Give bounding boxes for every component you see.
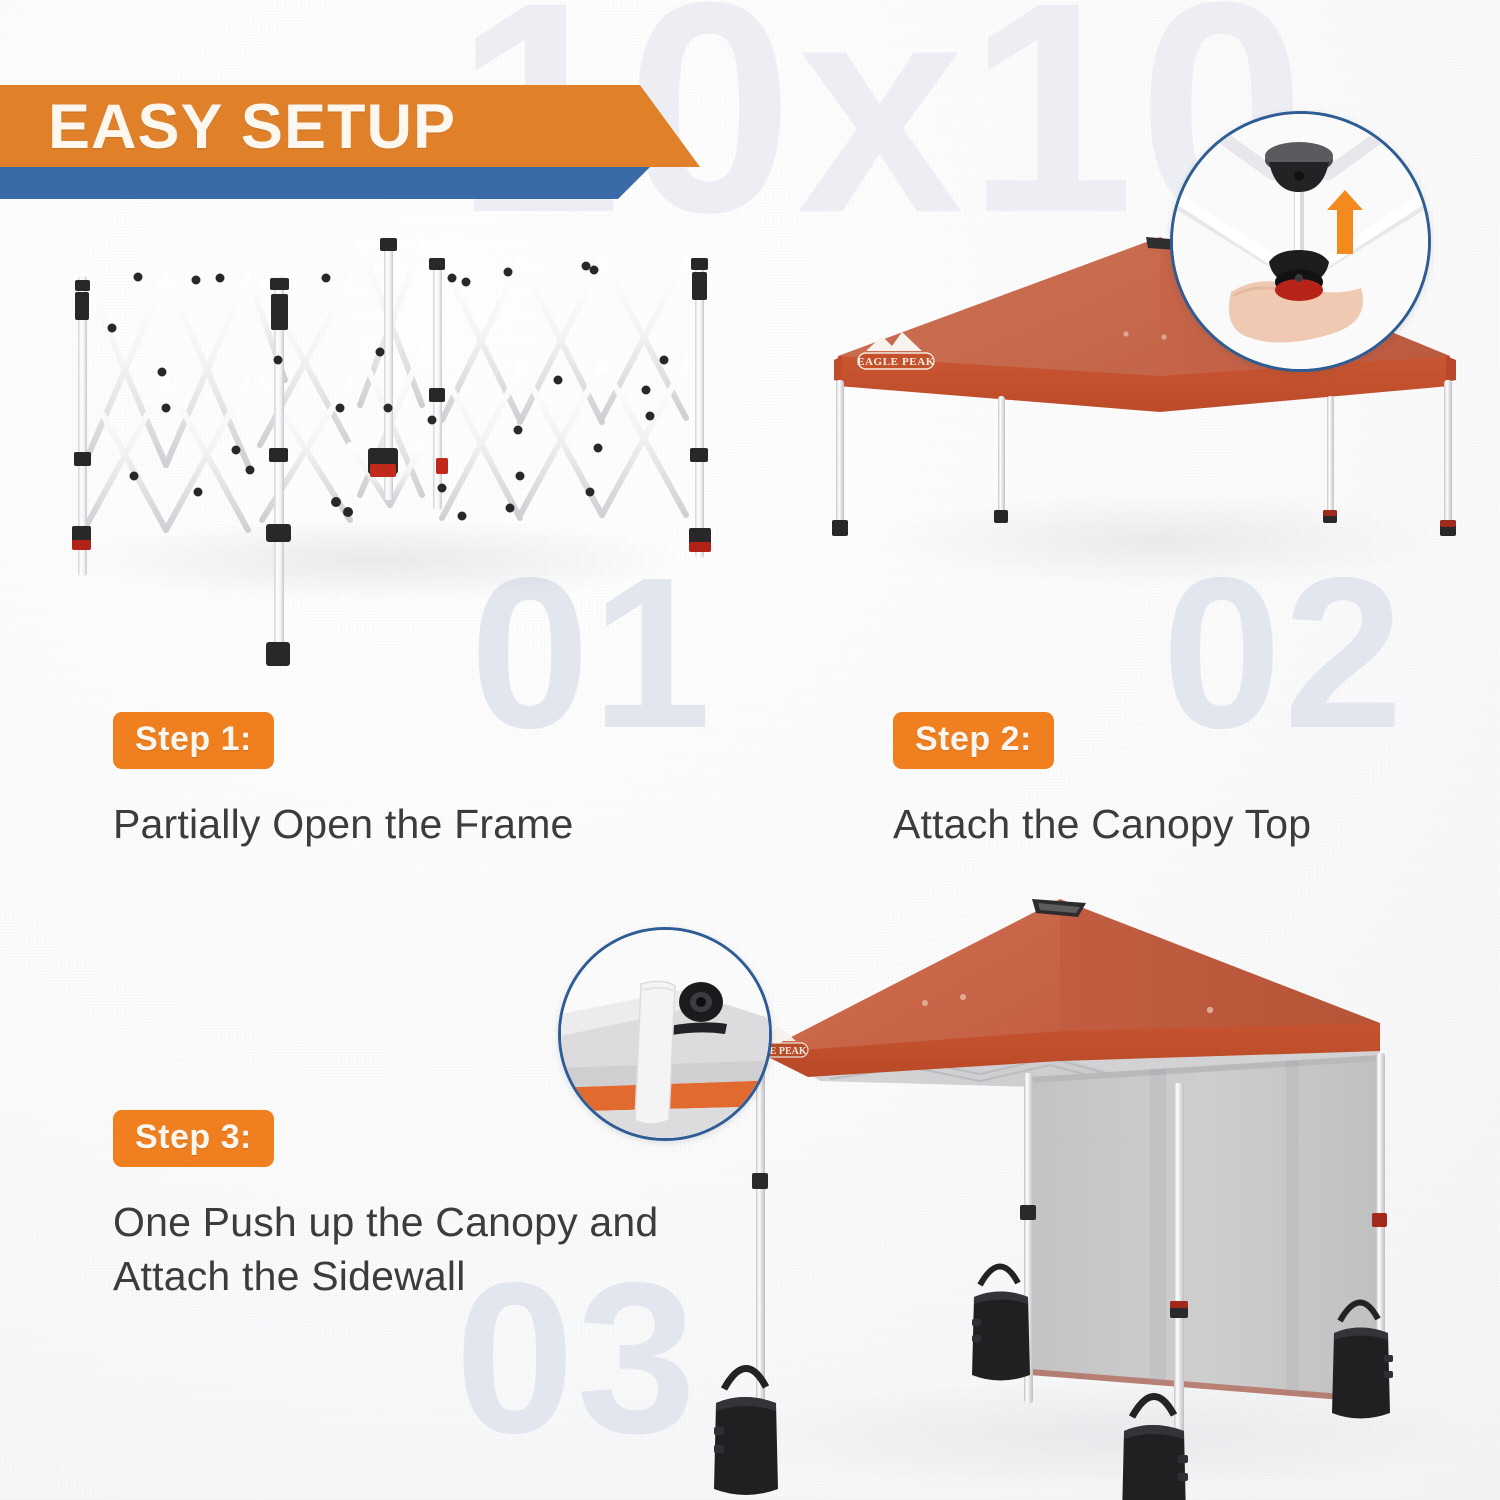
header-banner: EASY SETUP [0, 85, 700, 200]
step2-badge: Step 2: [893, 712, 1054, 769]
leg-front-left [756, 1051, 765, 1411]
weight-bag-front-left [714, 1368, 778, 1495]
canopy-sidewall-illustration: EAGLE PEAK [680, 855, 1500, 1500]
step2-inset-push-up-hub [1170, 111, 1431, 372]
step2-text: Attach the Canopy Top [893, 797, 1311, 851]
step1-figure-frame [50, 230, 730, 680]
sidewall-panel [1030, 1055, 1380, 1403]
step3-badge: Step 3: [113, 1110, 274, 1167]
step3-caption: Step 3: One Push up the Canopy and Attac… [113, 1110, 658, 1303]
step3-text: One Push up the Canopy and Attach the Si… [113, 1195, 658, 1303]
step3-figure-canopy-sidewall: EAGLE PEAK [680, 855, 1500, 1500]
step1-badge: Step 1: [113, 712, 274, 769]
svg-text:EAGLE PEAK: EAGLE PEAK [857, 356, 935, 368]
step1-text: Partially Open the Frame [113, 797, 574, 851]
velcro-strap-detail [561, 930, 769, 1138]
step2-caption: Step 2: Attach the Canopy Top [893, 712, 1311, 851]
accordion-frame-illustration [50, 230, 730, 680]
weight-bag-center-rear [972, 1266, 1030, 1380]
banner-title: EASY SETUP [48, 88, 456, 166]
push-up-hub-detail [1173, 114, 1428, 369]
step2-figure-canopy: EAGLE PEAK [830, 210, 1460, 610]
infographic-canvas: 10x10 EASY SETUP 01 02 03 [0, 0, 1500, 1500]
step3-inset-velcro-strap [558, 927, 772, 1141]
step1-caption: Step 1: Partially Open the Frame [113, 712, 574, 851]
